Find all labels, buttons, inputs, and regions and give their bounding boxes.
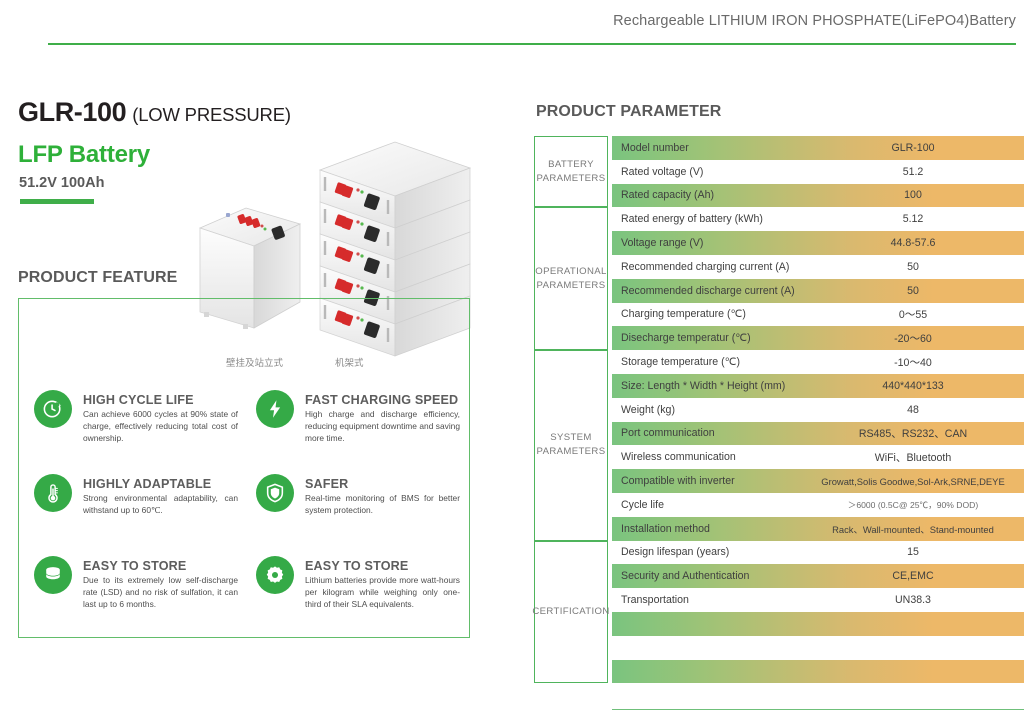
parameter-value: 50	[802, 261, 1024, 273]
parameter-row: Rated capacity (Ah)100	[612, 184, 1024, 208]
feature-text: SAFER Real-time monitoring of BMS for be…	[305, 474, 460, 517]
parameter-value: 50	[802, 285, 1024, 297]
parameter-row: Cycle life＞6000 (0.5C@ 25℃，90% DOD)	[612, 493, 1024, 517]
feature-item-high-cycle-life: HIGH CYCLE LIFE Can achieve 6000 cycles …	[34, 390, 240, 445]
parameter-value: RS485、RS232、CAN	[802, 426, 1024, 441]
parameter-label: Disecharge temperatur (℃)	[621, 332, 751, 344]
parameter-row: Installation methodRack、Wall-mounted、Sta…	[612, 517, 1024, 541]
parameter-value: Rack、Wall-mounted、Stand-mounted	[802, 522, 1024, 536]
parameter-row: Recommended discharge current (A)50	[612, 279, 1024, 303]
parameter-value: 100	[802, 189, 1024, 201]
parameter-value: -20～60	[802, 331, 1024, 346]
feature-text: EASY TO STORE Due to its extremely low s…	[83, 556, 238, 611]
parameter-row: Disecharge temperatur (℃)-20～60	[612, 326, 1024, 350]
parameter-value: 440*440*133	[802, 380, 1024, 392]
parameter-row: Recommended charging current (A)50	[612, 255, 1024, 279]
parameter-label: Compatible with inverter	[621, 475, 735, 487]
parameter-row: Charging temperature (℃)0～55	[612, 303, 1024, 327]
title-accent-bar	[20, 199, 94, 204]
feature-title: EASY TO STORE	[305, 559, 408, 573]
parameter-value: 15	[802, 546, 1024, 558]
model-suffix: (LOW PRESSURE)	[132, 104, 291, 125]
parameter-row: Rated voltage (V)51.2	[612, 160, 1024, 184]
parameter-row: Voltage range (V)44.8-57.6	[612, 231, 1024, 255]
parameter-row: Rated energy of battery (kWh)5.12	[612, 207, 1024, 231]
parameter-row: Design lifespan (years)15	[612, 541, 1024, 565]
parameter-category-column: BATTERYPARAMETERSOPERATIONALPARAMETERSSY…	[534, 136, 608, 636]
thermometer-icon	[34, 474, 72, 512]
battery-type-title: LFP Battery	[18, 141, 150, 169]
feature-title: EASY TO STORE	[83, 559, 186, 573]
parameter-label: Rated voltage (V)	[621, 166, 703, 178]
feature-text: HIGHLY ADAPTABLE Strong environmental ad…	[83, 474, 238, 517]
parameter-label: Weight (kg)	[621, 404, 675, 416]
feature-title: HIGHLY ADAPTABLE	[83, 477, 211, 491]
parameter-label: Recommended charging current (A)	[621, 261, 789, 273]
feature-title: FAST CHARGING SPEED	[305, 393, 458, 407]
feature-description: Real-time monitoring of BMS for better s…	[305, 493, 460, 517]
feature-description: Strong environmental adaptability, can w…	[83, 493, 238, 517]
battery-clock-icon	[34, 390, 72, 428]
parameter-row: Wireless communicationWiFi、Bluetooth	[612, 445, 1024, 469]
feature-text: FAST CHARGING SPEED High charge and disc…	[305, 390, 460, 445]
parameter-label: Rated energy of battery (kWh)	[621, 213, 763, 225]
feature-item-easy-to-store-weight: EASY TO STORE Lithium batteries provide …	[256, 556, 462, 611]
parameter-category: BATTERYPARAMETERS	[534, 136, 608, 207]
parameter-label: Size: Length * Width * Height (mm)	[621, 380, 785, 392]
parameter-label: Model number	[621, 142, 689, 154]
parameter-label: Rated capacity (Ah)	[621, 189, 714, 201]
stack-layers-icon	[34, 556, 72, 594]
parameter-label: Security and Authentication	[621, 570, 749, 582]
parameter-value: 5.12	[802, 213, 1024, 225]
parameter-value: Growatt,Solis Goodwe,Sol-Ark,SRNE,DEYE	[802, 476, 1024, 487]
parameter-row: Size: Length * Width * Height (mm)440*44…	[612, 374, 1024, 398]
parameter-category: CERTIFICATION	[534, 541, 608, 684]
model-title: GLR-100(LOW PRESSURE)	[18, 97, 291, 128]
parameter-label: Transportation	[621, 594, 689, 606]
parameter-row	[612, 683, 1024, 707]
parameter-value: 48	[802, 404, 1024, 416]
parameter-label: Charging temperature (℃)	[621, 308, 746, 320]
parameter-row: Weight (kg)48	[612, 398, 1024, 422]
parameter-label: Cycle life	[621, 499, 664, 511]
product-parameter-table: BATTERYPARAMETERSOPERATIONALPARAMETERSSY…	[534, 136, 1024, 636]
parameter-label: Voltage range (V)	[621, 237, 703, 249]
parameter-label: Installation method	[621, 523, 710, 535]
parameter-category: SYSTEMPARAMETERS	[534, 350, 608, 540]
header-divider	[48, 43, 1016, 45]
feature-item-safer: SAFER Real-time monitoring of BMS for be…	[256, 474, 462, 517]
feature-description: Due to its extremely low self-discharge …	[83, 575, 238, 611]
parameter-row: TransportationUN38.3	[612, 588, 1024, 612]
parameter-value: ＞6000 (0.5C@ 25℃，90% DOD)	[802, 499, 1024, 511]
header-tagline: Rechargeable LITHIUM IRON PHOSPHATE(LiFe…	[613, 13, 1016, 29]
battery-spec: 51.2V 100Ah	[19, 175, 104, 191]
parameter-value: WiFi、Bluetooth	[802, 450, 1024, 465]
parameter-value: GLR-100	[802, 142, 1024, 154]
feature-item-fast-charging-speed: FAST CHARGING SPEED High charge and disc…	[256, 390, 462, 445]
parameter-row: Storage temperature (℃)-10～40	[612, 350, 1024, 374]
feature-title: SAFER	[305, 477, 348, 491]
feature-item-easy-to-store-lsd: EASY TO STORE Due to its extremely low s…	[34, 556, 240, 611]
parameter-value: 0～55	[802, 307, 1024, 322]
parameter-value: UN38.3	[802, 594, 1024, 606]
feature-title: HIGH CYCLE LIFE	[83, 393, 194, 407]
page-header: Rechargeable LITHIUM IRON PHOSPHATE(LiFe…	[0, 0, 1024, 46]
parameter-row	[612, 612, 1024, 636]
parameter-label: Wireless communication	[621, 451, 736, 463]
product-feature-list: HIGH CYCLE LIFE Can achieve 6000 cycles …	[18, 298, 470, 638]
product-feature-heading: PRODUCT FEATURE	[18, 269, 177, 287]
feature-text: HIGH CYCLE LIFE Can achieve 6000 cycles …	[83, 390, 238, 445]
parameter-value: 44.8-57.6	[802, 237, 1024, 249]
feature-text: EASY TO STORE Lithium batteries provide …	[305, 556, 460, 611]
parameter-rows: Model numberGLR-100Rated voltage (V)51.2…	[612, 136, 1024, 707]
feature-item-highly-adaptable: HIGHLY ADAPTABLE Strong environmental ad…	[34, 474, 240, 517]
parameter-row: Compatible with inverterGrowatt,Solis Go…	[612, 469, 1024, 493]
parameter-label: Recommended discharge current (A)	[621, 285, 795, 297]
parameter-value: CE,EMC	[802, 570, 1024, 582]
parameter-label: Storage temperature (℃)	[621, 356, 740, 368]
gear-icon	[256, 556, 294, 594]
parameter-row	[612, 660, 1024, 684]
lightning-bolt-icon	[256, 390, 294, 428]
parameter-row: Model numberGLR-100	[612, 136, 1024, 160]
parameter-row	[612, 636, 1024, 660]
parameter-category: OPERATIONALPARAMETERS	[534, 207, 608, 350]
parameter-label: Port communication	[621, 427, 715, 439]
parameter-value: 51.2	[802, 166, 1024, 178]
parameter-value: -10～40	[802, 355, 1024, 370]
parameter-row: Security and AuthenticationCE,EMC	[612, 564, 1024, 588]
product-parameter-heading: PRODUCT PARAMETER	[536, 103, 721, 121]
parameter-row: Port communicationRS485、RS232、CAN	[612, 422, 1024, 446]
model-number: GLR-100	[18, 97, 126, 127]
parameter-label: Design lifespan (years)	[621, 546, 729, 558]
feature-description: Lithium batteries provide more watt-hour…	[305, 575, 460, 611]
feature-description: High charge and discharge efficiency, re…	[305, 409, 460, 445]
shield-icon	[256, 474, 294, 512]
feature-description: Can achieve 6000 cycles at 90% state of …	[83, 409, 238, 445]
